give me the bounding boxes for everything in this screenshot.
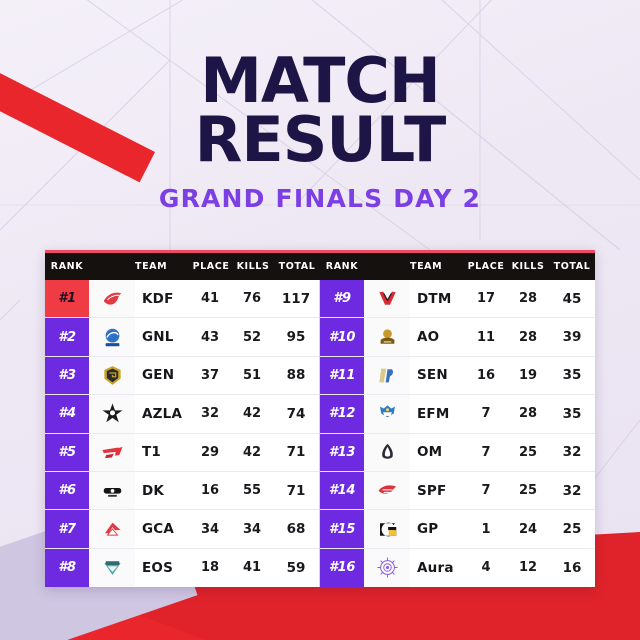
total-value: 35 (563, 367, 582, 383)
rank-column-cell: #3 (45, 357, 89, 394)
header-half-right: RANK TEAM PLACE KILLS TOTAL (320, 253, 595, 280)
table-row[interactable]: #16 Aura 4 12 (320, 549, 595, 587)
kills-value: 42 (243, 445, 261, 460)
gp-logo (364, 510, 410, 547)
standings-table-right: #9 DTM 17 28 45 #10 (320, 280, 595, 587)
total-cell: 45 (549, 280, 595, 317)
team-logo-cell (89, 510, 135, 547)
team-name: AZLA (135, 406, 182, 422)
total-cell: 59 (273, 549, 319, 587)
rank-badge: #14 (320, 472, 364, 509)
place-cell: 32 (189, 395, 231, 432)
gnl-logo (89, 318, 135, 355)
team-logo-cell (89, 549, 135, 587)
kills-value: 25 (519, 445, 537, 460)
total-value: 35 (563, 406, 582, 422)
team-name-cell: SEN (410, 357, 465, 394)
page-subtitle: GRAND FINALS DAY 2 (0, 184, 640, 213)
rank-column-cell: #7 (45, 510, 89, 547)
kills-cell: 12 (507, 549, 549, 587)
place-value: 7 (481, 445, 490, 460)
total-value: 68 (287, 521, 306, 537)
sen-logo (364, 357, 410, 394)
eos-logo (89, 549, 135, 587)
table-row[interactable]: #6 DK 16 55 71 (45, 472, 319, 510)
place-value: 16 (477, 368, 495, 383)
kills-value: 24 (519, 522, 537, 537)
team-name: Aura (410, 560, 454, 576)
total-cell: 35 (549, 357, 595, 394)
table-row[interactable]: #1 KDF 41 76 117 (45, 280, 319, 318)
kills-cell: 34 (231, 510, 273, 547)
team-logo-cell (89, 280, 135, 317)
total-cell: 117 (273, 280, 319, 317)
total-value: 71 (287, 483, 306, 499)
team-name: GEN (135, 367, 174, 383)
kills-value: 76 (243, 291, 261, 306)
team-name-cell: GEN (135, 357, 189, 394)
kills-cell: 24 (507, 510, 549, 547)
team-logo-cell (89, 357, 135, 394)
place-cell: 11 (465, 318, 507, 355)
total-cell: 32 (549, 472, 595, 509)
header-total-left: TOTAL (279, 261, 316, 272)
kdf-logo (89, 280, 135, 317)
team-logo-cell (89, 434, 135, 471)
rank-column-cell: #15 (320, 510, 364, 547)
team-name-cell: EFM (410, 395, 465, 432)
table-row[interactable]: #7 GCA 34 34 68 (45, 510, 319, 548)
om-logo (364, 434, 410, 471)
rank-column-cell: #12 (320, 395, 364, 432)
scoreboard-body: #1 KDF 41 76 117 #2 (45, 280, 595, 587)
place-cell: 7 (465, 472, 507, 509)
rank-badge: #9 (320, 280, 364, 317)
table-row[interactable]: #3 GEN 37 51 88 (45, 357, 319, 395)
kills-cell: 25 (507, 472, 549, 509)
scoreboard-header-bar: RANK TEAM PLACE KILLS TOTAL RANK TEAM PL… (45, 253, 595, 280)
total-value: 71 (287, 444, 306, 460)
rank-column-cell: #5 (45, 434, 89, 471)
table-row[interactable]: #4 AZLA 32 42 74 (45, 395, 319, 433)
team-name-cell: OM (410, 434, 465, 471)
place-value: 34 (201, 522, 219, 537)
rank-column-cell: #6 (45, 472, 89, 509)
standings-table-left: #1 KDF 41 76 117 #2 (45, 280, 320, 587)
gca-logo (89, 510, 135, 547)
team-name-cell: Aura (410, 549, 465, 587)
total-cell: 88 (273, 357, 319, 394)
rank-badge: #13 (320, 434, 364, 471)
header-total-right: TOTAL (554, 261, 591, 272)
header-place-left: PLACE (193, 261, 230, 272)
team-name: GCA (135, 521, 174, 537)
azla-logo (89, 395, 135, 432)
kills-value: 42 (243, 406, 261, 421)
place-value: 43 (201, 330, 219, 345)
kills-value: 51 (243, 368, 261, 383)
t1-logo (89, 434, 135, 471)
total-value: 45 (563, 291, 582, 307)
kills-cell: 42 (231, 395, 273, 432)
table-row[interactable]: #11 SEN 16 19 35 (320, 357, 595, 395)
dtm-logo (364, 280, 410, 317)
rank-column-cell: #4 (45, 395, 89, 432)
rank-badge: #10 (320, 318, 364, 355)
total-value: 95 (287, 329, 306, 345)
header-team-left: TEAM (135, 261, 167, 272)
place-value: 37 (201, 368, 219, 383)
spf-logo (364, 472, 410, 509)
table-row[interactable]: #10 AO 11 28 39 (320, 318, 595, 356)
team-name: SEN (410, 367, 448, 383)
total-value: 59 (287, 560, 306, 576)
rank-column-cell: #14 (320, 472, 364, 509)
team-name: DTM (410, 291, 451, 307)
rank-column-cell: #9 (320, 280, 364, 317)
place-cell: 34 (189, 510, 231, 547)
team-name: EOS (135, 560, 173, 576)
header-half-left: RANK TEAM PLACE KILLS TOTAL (45, 253, 320, 280)
team-name-cell: DK (135, 472, 189, 509)
kills-cell: 42 (231, 434, 273, 471)
team-name-cell: DTM (410, 280, 465, 317)
rank-badge: #12 (320, 395, 364, 432)
place-value: 32 (201, 406, 219, 421)
place-value: 7 (481, 406, 490, 421)
team-logo-cell (364, 395, 410, 432)
team-name: SPF (410, 483, 446, 499)
place-value: 18 (201, 560, 219, 575)
team-logo-cell (89, 318, 135, 355)
kills-cell: 55 (231, 472, 273, 509)
headline-block: MATCH RESULT GRAND FINALS DAY 2 (0, 52, 640, 213)
place-cell: 29 (189, 434, 231, 471)
table-row[interactable]: #12 EFM 7 28 35 (320, 395, 595, 433)
total-value: 32 (563, 444, 582, 460)
kills-value: 28 (519, 330, 537, 345)
total-value: 25 (563, 521, 582, 537)
total-value: 74 (287, 406, 306, 422)
kills-value: 28 (519, 406, 537, 421)
team-name: T1 (135, 444, 161, 460)
kills-value: 19 (519, 368, 537, 383)
rank-badge: #2 (45, 318, 89, 355)
rank-column-cell: #11 (320, 357, 364, 394)
gen-logo (89, 357, 135, 394)
kills-value: 41 (243, 560, 261, 575)
team-name-cell: GCA (135, 510, 189, 547)
rank-badge: #4 (45, 395, 89, 432)
rank-column-cell: #2 (45, 318, 89, 355)
rank-badge: #5 (45, 434, 89, 471)
place-cell: 7 (465, 395, 507, 432)
header-team-right: TEAM (410, 261, 442, 272)
team-name: GNL (135, 329, 174, 345)
rank-column-cell: #8 (45, 549, 89, 587)
rank-badge: #1 (45, 280, 89, 317)
team-logo-cell (89, 472, 135, 509)
place-value: 16 (201, 483, 219, 498)
total-cell: 25 (549, 510, 595, 547)
team-logo-cell (364, 280, 410, 317)
kills-cell: 28 (507, 280, 549, 317)
place-cell: 41 (189, 280, 231, 317)
rank-badge: #15 (320, 510, 364, 547)
total-value: 117 (282, 291, 310, 307)
team-name-cell: EOS (135, 549, 189, 587)
place-cell: 17 (465, 280, 507, 317)
rank-column-cell: #1 (45, 280, 89, 317)
table-row[interactable]: #9 DTM 17 28 45 (320, 280, 595, 318)
kills-value: 55 (243, 483, 261, 498)
rank-column-cell: #16 (320, 549, 364, 587)
page-title-line-2: RESULT (0, 111, 640, 170)
place-value: 4 (481, 560, 490, 575)
place-value: 7 (481, 483, 490, 498)
kills-cell: 19 (507, 357, 549, 394)
kills-cell: 51 (231, 357, 273, 394)
header-kills-left: KILLS (237, 261, 270, 272)
total-value: 39 (563, 329, 582, 345)
kills-cell: 28 (507, 395, 549, 432)
table-row[interactable]: #8 EOS 18 41 59 (45, 549, 319, 587)
kills-cell: 52 (231, 318, 273, 355)
place-cell: 16 (189, 472, 231, 509)
efm-logo (364, 395, 410, 432)
team-name-cell: AO (410, 318, 465, 355)
team-logo-cell (89, 395, 135, 432)
header-kills-right: KILLS (512, 261, 545, 272)
team-logo-cell (364, 510, 410, 547)
kills-value: 52 (243, 330, 261, 345)
total-cell: 39 (549, 318, 595, 355)
place-value: 29 (201, 445, 219, 460)
team-name-cell: T1 (135, 434, 189, 471)
header-rank-right: RANK (326, 261, 358, 272)
table-row[interactable]: #2 GNL 43 52 95 (45, 318, 319, 356)
place-cell: 37 (189, 357, 231, 394)
rank-badge: #7 (45, 510, 89, 547)
kills-value: 25 (519, 483, 537, 498)
kills-cell: 41 (231, 549, 273, 587)
table-row[interactable]: #14 SPF 7 25 32 (320, 472, 595, 510)
total-cell: 71 (273, 472, 319, 509)
team-name-cell: KDF (135, 280, 189, 317)
total-cell: 71 (273, 434, 319, 471)
aura-logo (364, 549, 410, 587)
scoreboard: RANK TEAM PLACE KILLS TOTAL RANK TEAM PL… (45, 250, 595, 587)
place-value: 17 (477, 291, 495, 306)
ao-logo (364, 318, 410, 355)
rank-column-cell: #10 (320, 318, 364, 355)
team-name-cell: GP (410, 510, 465, 547)
total-cell: 16 (549, 549, 595, 587)
total-value: 32 (563, 483, 582, 499)
table-row[interactable]: #5 T1 29 42 71 (45, 434, 319, 472)
total-cell: 95 (273, 318, 319, 355)
team-logo-cell (364, 318, 410, 355)
rank-badge: #8 (45, 549, 89, 587)
rank-badge: #11 (320, 357, 364, 394)
team-name: DK (135, 483, 164, 499)
team-name-cell: GNL (135, 318, 189, 355)
place-cell: 43 (189, 318, 231, 355)
team-logo-cell (364, 434, 410, 471)
kills-cell: 76 (231, 280, 273, 317)
dk-logo (89, 472, 135, 509)
team-name: GP (410, 521, 438, 537)
place-value: 41 (201, 291, 219, 306)
rank-badge: #6 (45, 472, 89, 509)
kills-cell: 25 (507, 434, 549, 471)
total-cell: 35 (549, 395, 595, 432)
team-name: OM (410, 444, 442, 460)
total-cell: 32 (549, 434, 595, 471)
place-cell: 18 (189, 549, 231, 587)
place-cell: 1 (465, 510, 507, 547)
place-cell: 16 (465, 357, 507, 394)
table-row[interactable]: #15 GP 1 24 25 (320, 510, 595, 548)
team-logo-cell (364, 549, 410, 587)
match-result-graphic: MATCH RESULT GRAND FINALS DAY 2 RANK TEA… (0, 0, 640, 640)
total-value: 16 (563, 560, 582, 576)
team-name: AO (410, 329, 439, 345)
team-logo-cell (364, 357, 410, 394)
place-cell: 7 (465, 434, 507, 471)
kills-value: 34 (243, 522, 261, 537)
rank-badge: #3 (45, 357, 89, 394)
kills-cell: 28 (507, 318, 549, 355)
team-name-cell: SPF (410, 472, 465, 509)
table-row[interactable]: #13 OM 7 25 32 (320, 434, 595, 472)
place-value: 11 (477, 330, 495, 345)
total-cell: 74 (273, 395, 319, 432)
place-value: 1 (481, 522, 490, 537)
rank-column-cell: #13 (320, 434, 364, 471)
rank-badge: #16 (320, 549, 364, 587)
header-place-right: PLACE (468, 261, 505, 272)
kills-value: 12 (519, 560, 537, 575)
team-logo-cell (364, 472, 410, 509)
header-rank-left: RANK (51, 261, 83, 272)
team-name: KDF (135, 291, 174, 307)
total-cell: 68 (273, 510, 319, 547)
kills-value: 28 (519, 291, 537, 306)
team-name-cell: AZLA (135, 395, 189, 432)
place-cell: 4 (465, 549, 507, 587)
team-name: EFM (410, 406, 449, 422)
total-value: 88 (287, 367, 306, 383)
